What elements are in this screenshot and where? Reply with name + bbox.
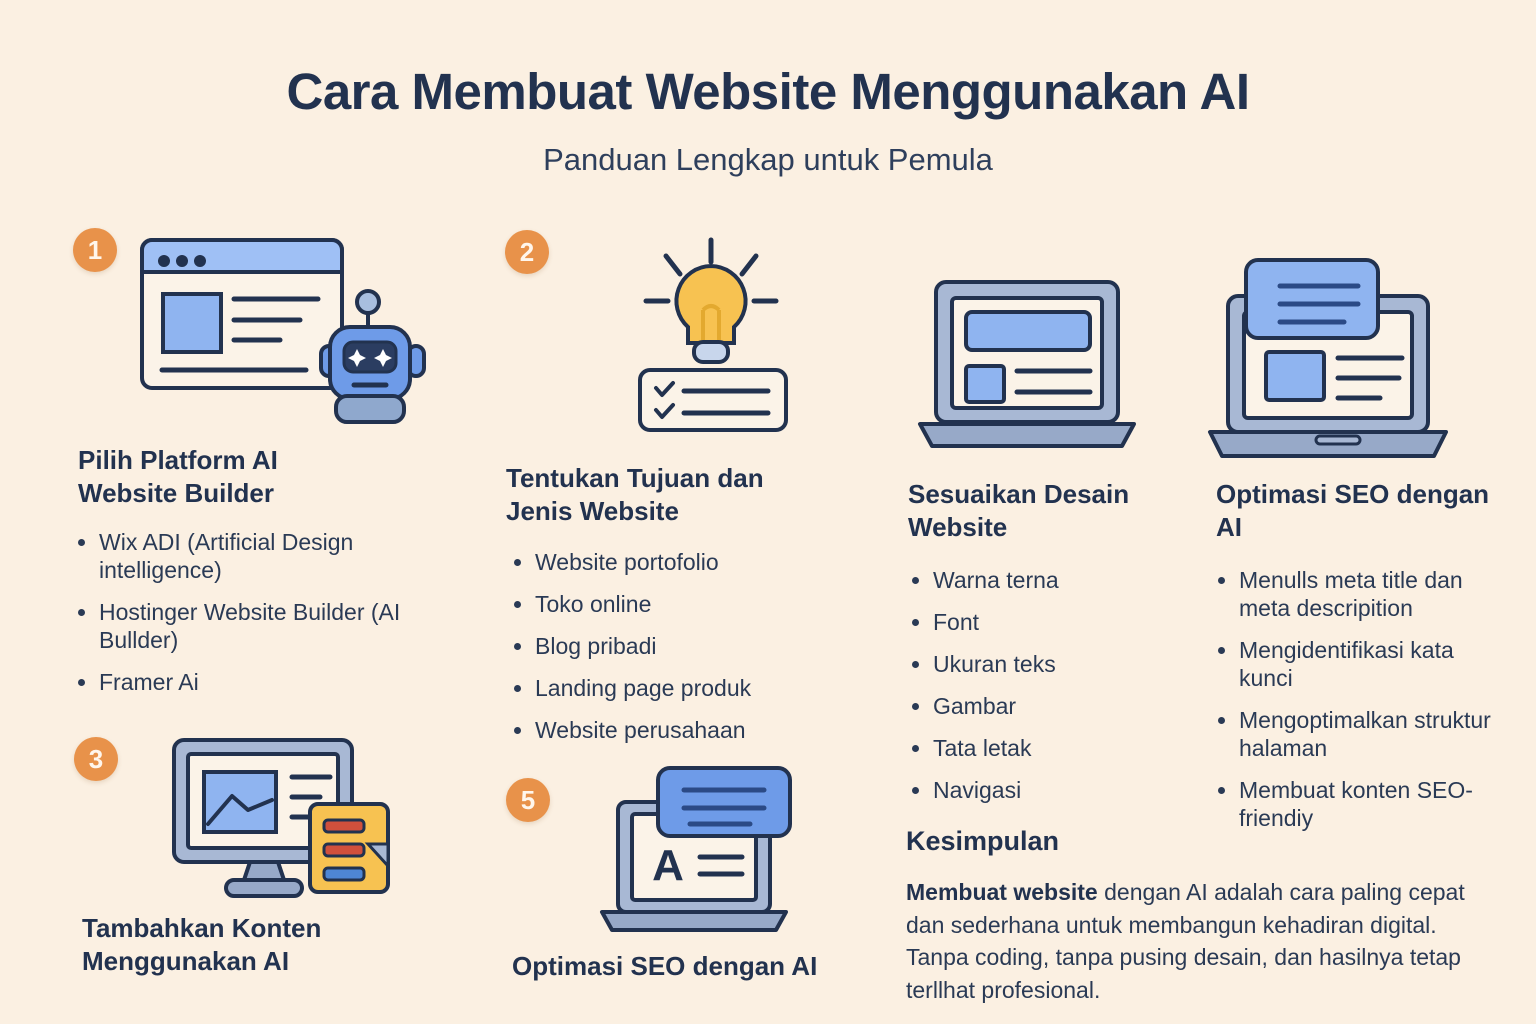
step-1-list: Wix ADI (Artificial Design intelligence)… (72, 528, 422, 710)
step-3-heading: Tambahkan Konten Menggunakan AI (82, 912, 442, 979)
list-item: Gambar (906, 692, 1176, 720)
step-badge-1: 1 (73, 228, 117, 272)
list-item: Wix ADI (Artificial Design intelligence) (72, 528, 422, 584)
laptop-with-letter-a-illustration: A (584, 762, 814, 942)
conclusion-lead: Membuat website (906, 879, 1098, 905)
list-item: Website perusahaan (508, 716, 848, 744)
list-item: Framer Ai (72, 668, 422, 696)
list-item: Tata letak (906, 734, 1176, 762)
step-1-heading: Pilih Platform AI Website Builder (78, 444, 378, 511)
list-item: Landing page produk (508, 674, 848, 702)
list-item: Mengidentifikasi kata kunci (1212, 636, 1502, 692)
list-item: Website portofolio (508, 548, 848, 576)
list-item: Warna terna (906, 566, 1176, 594)
monitor-with-chart-and-document-illustration (152, 732, 412, 912)
step-5-list: Menulls meta title dan meta descripition… (1212, 566, 1502, 846)
browser-window-with-robot-illustration (128, 232, 438, 442)
list-item: Blog pribadi (508, 632, 848, 660)
step-badge-1-number: 1 (88, 235, 102, 266)
step-4-heading: Sesuaikan Desain Website (908, 478, 1188, 545)
laptop-with-floating-card-illustration (1204, 248, 1464, 463)
step-4-list: Warna terna Font Ukuran teks Gambar Tata… (906, 566, 1176, 818)
list-item: Navigasi (906, 776, 1176, 804)
step-badge-5-number: 5 (521, 785, 535, 816)
conclusion-heading: Kesimpulan (906, 826, 1059, 857)
step-2-heading: Tentukan Tujuan dan Jenis Website (506, 462, 806, 529)
step-badge-3-number: 3 (89, 744, 103, 775)
list-item: Menulls meta title dan meta descripition (1212, 566, 1502, 622)
conclusion-body: Membuat website dengan AI adalah cara pa… (906, 876, 1476, 1007)
lightbulb-with-checklist-illustration (608, 228, 823, 448)
list-item: Membuat konten SEO-friendiy (1212, 776, 1502, 832)
list-item: Toko online (508, 590, 848, 618)
step-5-heading: Optimasi SEO dengan AI (1216, 478, 1496, 545)
step-badge-5: 5 (506, 778, 550, 822)
infographic-canvas: Cara Membuat Website Menggunakan AI Pand… (0, 0, 1536, 1024)
list-item: Font (906, 608, 1176, 636)
step-badge-2-number: 2 (520, 237, 534, 268)
step-badge-3: 3 (74, 737, 118, 781)
step-badge-2: 2 (505, 230, 549, 274)
list-item: Mengoptimalkan struktur halaman (1212, 706, 1502, 762)
step-2-list: Website portofolio Toko online Blog prib… (508, 548, 848, 758)
list-item: Hostinger Website Builder (AI Bullder) (72, 598, 422, 654)
page-subtitle: Panduan Lengkap untuk Pemula (0, 142, 1536, 178)
laptop-with-layout-illustration (912, 272, 1162, 462)
list-item: Ukuran teks (906, 650, 1176, 678)
step-5-duplicate-heading: Optimasi SEO dengan AI (512, 950, 912, 983)
page-title: Cara Membuat Website Menggunakan AI (0, 62, 1536, 121)
svg-text:A: A (652, 841, 684, 890)
